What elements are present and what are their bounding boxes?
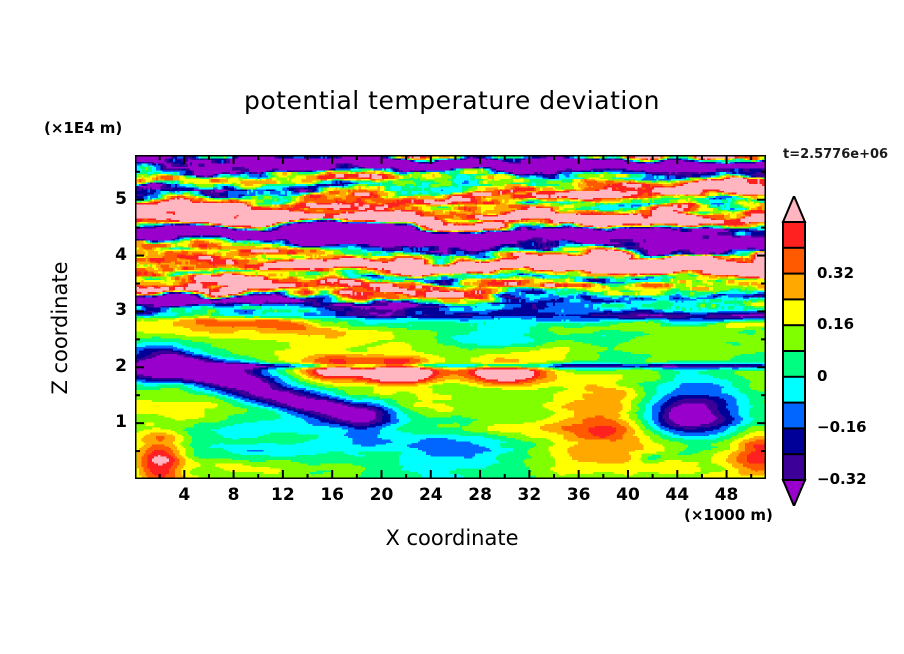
x-tick-label: 12 [269, 485, 297, 505]
y-tick-label: 4 [109, 245, 127, 265]
x-tick-label: 16 [318, 485, 346, 505]
x-axis-title: X coordinate [0, 526, 904, 550]
x-tick-label: 28 [466, 485, 494, 505]
x-tick-label: 48 [713, 485, 741, 505]
colorbar-tick-label: 0.32 [817, 264, 854, 282]
x-tick-label: 24 [417, 485, 445, 505]
colorbar-tick-label: −0.32 [817, 470, 867, 488]
y-axis-title: Z coordinate [48, 208, 72, 448]
colorbar-band [783, 299, 805, 325]
contour-field [135, 155, 766, 479]
x-tick-label: 36 [565, 485, 593, 505]
colorbar-band [783, 274, 805, 300]
x-tick-label: 40 [614, 485, 642, 505]
colorbar-over-cap [783, 196, 805, 222]
colorbar-band [783, 351, 805, 377]
colorbar-band [783, 377, 805, 403]
x-axis-unit-label: (×1000 m) [684, 506, 773, 524]
y-tick-label: 1 [109, 412, 127, 432]
colorbar-tick-label: −0.16 [817, 418, 867, 436]
y-axis-unit-label: (×1E4 m) [44, 119, 122, 137]
y-tick-label: 3 [109, 300, 127, 320]
x-tick-label: 44 [663, 485, 691, 505]
figure-canvas: potential temperature deviation (×1E4 m)… [0, 0, 904, 654]
colorbar-band [783, 454, 805, 480]
contour-plot-area [135, 155, 766, 479]
colorbar-band [783, 222, 805, 248]
colorbar-band [783, 403, 805, 429]
x-tick-label: 20 [367, 485, 395, 505]
colorbar-band [783, 248, 805, 274]
colorbar-tick-label: 0.16 [817, 315, 854, 333]
chart-title: potential temperature deviation [0, 86, 904, 115]
colorbar-band [783, 428, 805, 454]
x-tick-label: 8 [220, 485, 248, 505]
y-tick-label: 5 [109, 189, 127, 209]
x-tick-label: 4 [170, 485, 198, 505]
y-tick-label: 2 [109, 356, 127, 376]
timestamp-annotation: t=2.5776e+06 [783, 147, 888, 162]
x-tick-label: 32 [515, 485, 543, 505]
colorbar [781, 196, 807, 506]
colorbar-tick-label: 0 [817, 367, 827, 385]
colorbar-under-cap [783, 480, 805, 506]
colorbar-band [783, 325, 805, 351]
